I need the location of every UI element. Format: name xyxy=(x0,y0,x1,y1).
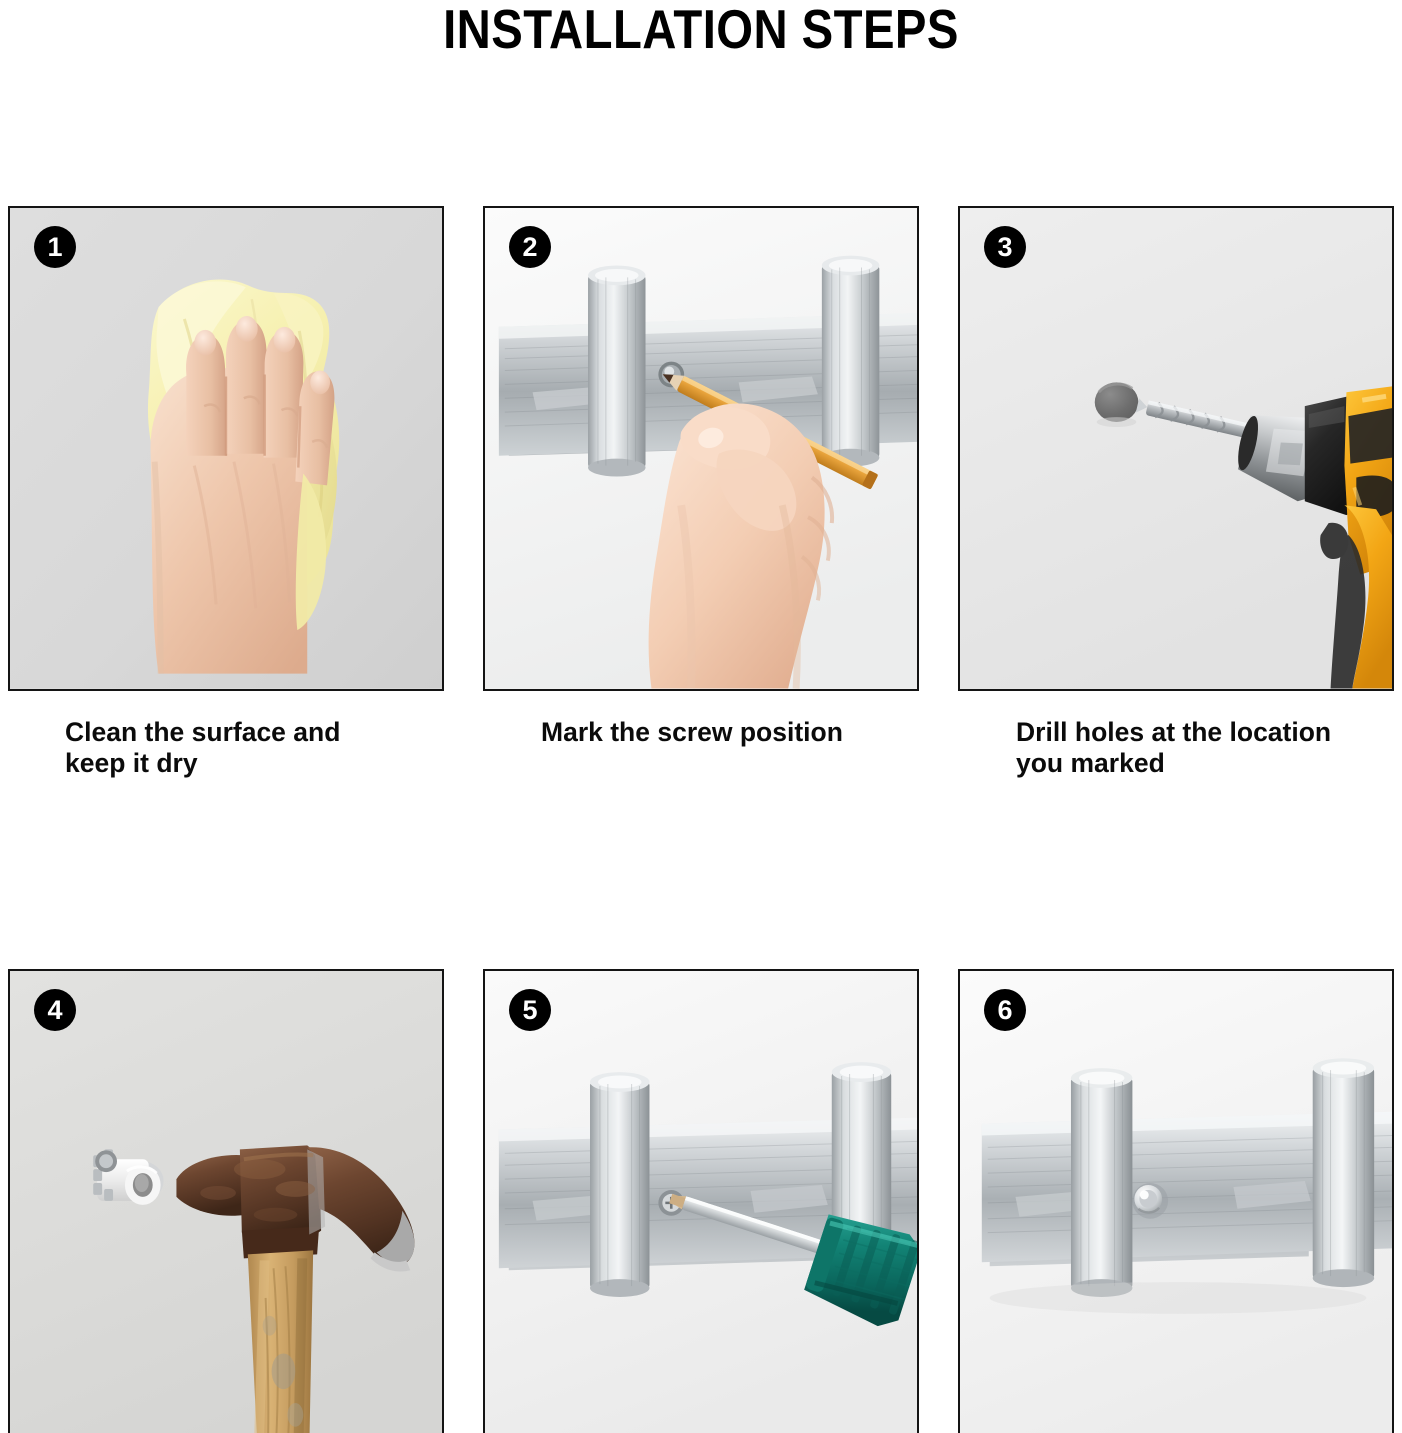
scene-screwdriver-driving-screw-into-rail xyxy=(485,971,917,1433)
step-caption-1: Clean the surface and keep it dry xyxy=(65,717,444,779)
step-caption-3: Drill holes at the location you marked xyxy=(1016,717,1394,779)
step-card-6: 6 Install the nut xyxy=(958,969,1394,1433)
scene-finished-hook-rail-with-nut-installed xyxy=(960,971,1392,1433)
step-badge-2: 2 xyxy=(509,226,551,268)
step-card-1: 1 Clean the surface and keep it dry xyxy=(8,206,444,779)
step-card-2: 2 Mark the screw position xyxy=(483,206,919,779)
page-title: INSTALLATION STEPS xyxy=(98,0,1304,58)
step-image-2: 2 xyxy=(483,206,919,691)
step-badge-1: 1 xyxy=(34,226,76,268)
scene-hand-wiping-wall-with-yellow-cloth xyxy=(10,208,442,689)
step-image-1: 1 xyxy=(8,206,444,691)
step-badge-5: 5 xyxy=(509,989,551,1031)
step-badge-6: 6 xyxy=(984,989,1026,1031)
step-image-3: 3 xyxy=(958,206,1394,691)
installation-steps-infographic: INSTALLATION STEPS xyxy=(0,0,1402,1433)
step-card-5: 5 Fixing screws xyxy=(483,969,919,1433)
step-card-3: 3 Drill holes at the location you marked xyxy=(958,206,1394,779)
scene-power-drill-boring-hole-in-wall xyxy=(960,208,1392,689)
step-badge-4: 4 xyxy=(34,989,76,1031)
step-image-6: 6 xyxy=(958,969,1394,1433)
step-caption-2: Mark the screw position xyxy=(541,717,919,748)
step-card-4: 4 Place the screw holder into the hole xyxy=(8,969,444,1433)
steps-grid: 1 Clean the surface and keep it dry xyxy=(8,206,1394,1433)
step-image-4: 4 xyxy=(8,969,444,1433)
scene-hammer-tapping-wall-anchor-into-hole xyxy=(10,971,442,1433)
scene-hand-marking-screw-hole-with-pencil xyxy=(485,208,917,689)
step-badge-3: 3 xyxy=(984,226,1026,268)
step-image-5: 5 xyxy=(483,969,919,1433)
